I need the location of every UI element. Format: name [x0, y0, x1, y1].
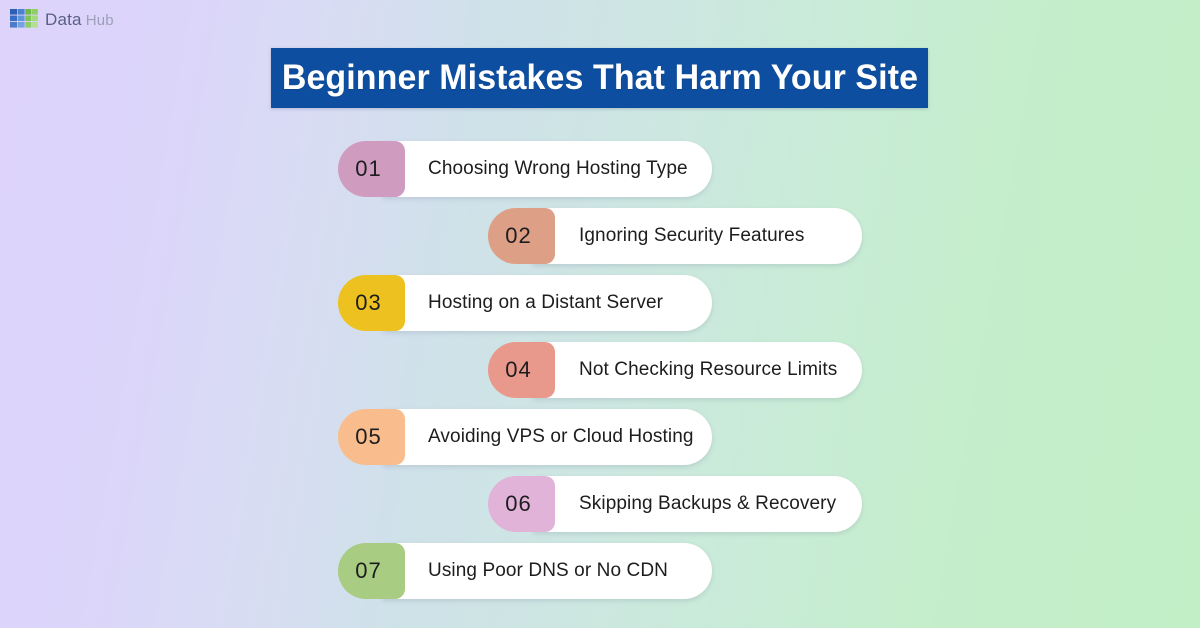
- list-item-pill: Ignoring Security Features: [533, 208, 862, 264]
- list-item-number: 03: [355, 290, 381, 316]
- list-item-number-badge: 03: [338, 275, 405, 331]
- brand-logo: DataHub: [10, 6, 114, 32]
- list-item: Hosting on a Distant Server03: [0, 275, 1200, 342]
- infographic-canvas: DataHub Beginner Mistakes That Harm Your…: [0, 0, 1200, 628]
- list-item-number-badge: 01: [338, 141, 405, 197]
- brand-name: DataHub: [45, 11, 114, 28]
- list-item-number: 07: [355, 558, 381, 584]
- page-title: Beginner Mistakes That Harm Your Site: [281, 58, 917, 98]
- list-item-number-badge: 02: [488, 208, 555, 264]
- list-item-pill: Using Poor DNS or No CDN: [383, 543, 712, 599]
- brand-name-secondary: Hub: [86, 12, 114, 29]
- grid-squares-logo-icon: [10, 9, 38, 29]
- list-item: Skipping Backups & Recovery06: [0, 476, 1200, 543]
- list-item-number: 01: [355, 156, 381, 182]
- list-item-label: Using Poor DNS or No CDN: [428, 560, 668, 582]
- list-item-number-badge: 07: [338, 543, 405, 599]
- list-item-number: 02: [505, 223, 531, 249]
- list-item-pill: Hosting on a Distant Server: [383, 275, 712, 331]
- list-item-number: 04: [505, 357, 531, 383]
- list-item-label: Skipping Backups & Recovery: [579, 493, 836, 515]
- list-item-pill: Not Checking Resource Limits: [533, 342, 862, 398]
- mistakes-list: Choosing Wrong Hosting Type01Ignoring Se…: [0, 141, 1200, 610]
- list-item: Avoiding VPS or Cloud Hosting05: [0, 409, 1200, 476]
- list-item-label: Not Checking Resource Limits: [579, 359, 837, 381]
- list-item-number-badge: 04: [488, 342, 555, 398]
- brand-name-primary: Data: [45, 10, 82, 29]
- title-banner: Beginner Mistakes That Harm Your Site: [271, 48, 928, 108]
- list-item: Using Poor DNS or No CDN07: [0, 543, 1200, 610]
- list-item-label: Hosting on a Distant Server: [428, 292, 663, 314]
- list-item: Choosing Wrong Hosting Type01: [0, 141, 1200, 208]
- list-item-pill: Choosing Wrong Hosting Type: [383, 141, 712, 197]
- list-item-label: Ignoring Security Features: [579, 225, 804, 247]
- list-item: Not Checking Resource Limits04: [0, 342, 1200, 409]
- list-item-number-badge: 05: [338, 409, 405, 465]
- list-item-number: 05: [355, 424, 381, 450]
- list-item: Ignoring Security Features02: [0, 208, 1200, 275]
- list-item-number: 06: [505, 491, 531, 517]
- list-item-label: Choosing Wrong Hosting Type: [428, 158, 688, 180]
- list-item-pill: Skipping Backups & Recovery: [533, 476, 862, 532]
- list-item-pill: Avoiding VPS or Cloud Hosting: [383, 409, 712, 465]
- list-item-number-badge: 06: [488, 476, 555, 532]
- list-item-label: Avoiding VPS or Cloud Hosting: [428, 426, 694, 448]
